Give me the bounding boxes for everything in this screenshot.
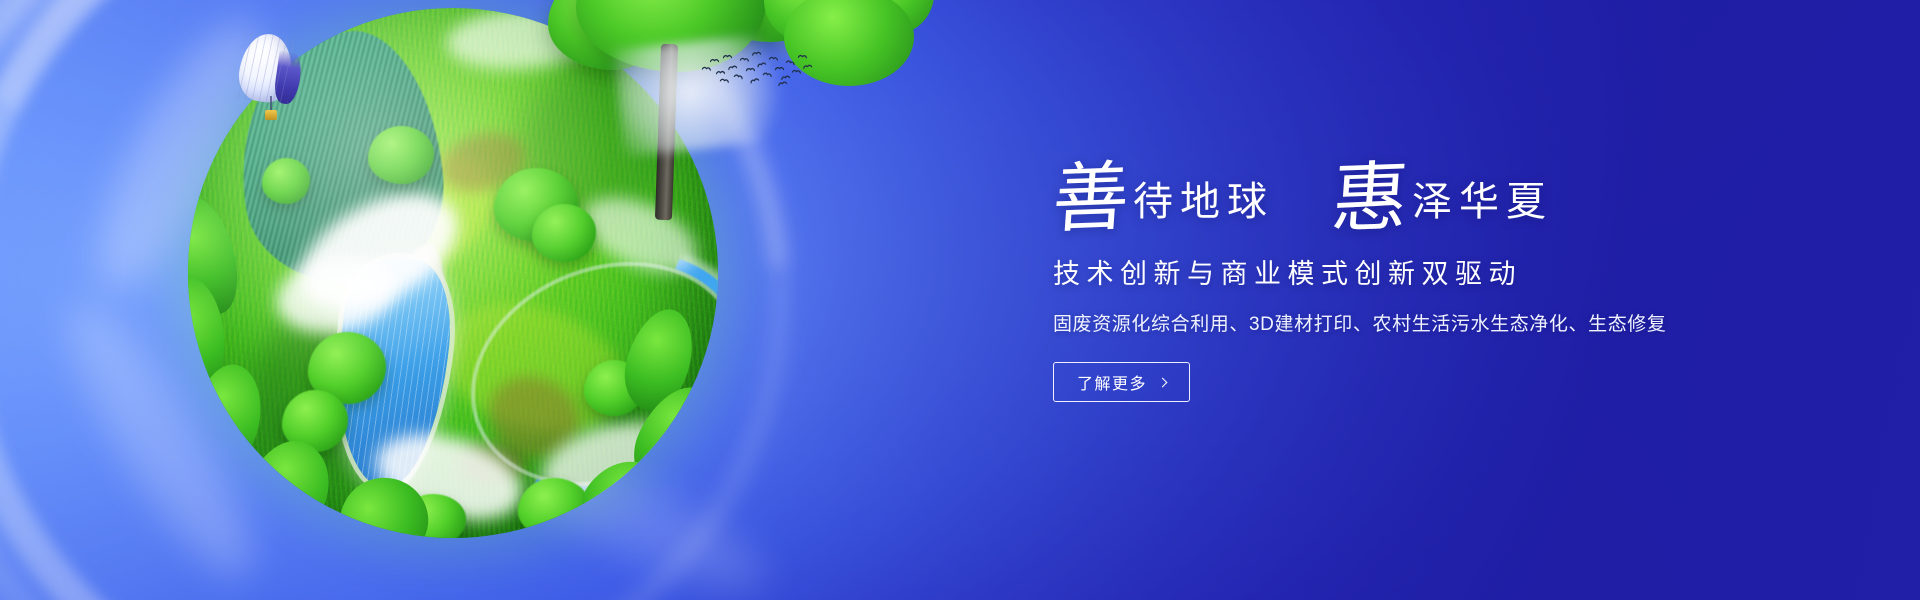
headline-phrase-1-rest: 待地球 [1133, 182, 1274, 222]
bird-icon [728, 64, 738, 71]
cloud [281, 170, 476, 335]
learn-more-button[interactable]: 了解更多 [1053, 362, 1190, 402]
page-title: 善 待地球 惠 泽华夏 [1053, 146, 1753, 232]
bird-icon [720, 77, 730, 83]
bird-icon [775, 66, 784, 71]
headline-calligraphic-char-1: 善 [1050, 159, 1132, 238]
headline-calligraphic-char-2: 惠 [1329, 159, 1411, 238]
shrub [518, 478, 590, 538]
bird-icon [716, 70, 725, 75]
cloud [573, 182, 708, 287]
bird-icon [749, 77, 759, 85]
soil-patch [434, 123, 532, 201]
hero-subtitle: 技术创新与商业模式创新双驱动 [1053, 252, 1753, 291]
meadow-patch [323, 130, 514, 296]
headline-phrase-2-rest: 泽华夏 [1412, 182, 1553, 222]
lake-shore [369, 241, 457, 492]
bird-icon [752, 50, 762, 56]
hero-description: 固废资源化综合利用、3D建材打印、农村生活污水生态净化、生态修复 [1053, 309, 1753, 336]
soil-patch [476, 363, 592, 472]
bird-icon [723, 54, 732, 59]
lake [326, 253, 457, 493]
soil-patch [456, 444, 526, 484]
bird-icon [740, 56, 750, 62]
shrub [308, 332, 386, 404]
meadow-patch [424, 282, 642, 455]
shrub [400, 494, 466, 538]
shrub [262, 158, 310, 204]
bird-icon [792, 68, 802, 74]
balloon-basket [265, 110, 277, 120]
shrub [584, 360, 644, 416]
bird-icon [798, 54, 807, 60]
cloud [366, 419, 532, 535]
bird-icon [785, 59, 795, 67]
hot-air-balloon-icon [240, 34, 302, 130]
bird-icon [763, 71, 773, 78]
shrub [494, 168, 578, 242]
bird-icon [769, 55, 779, 61]
bird-icon [733, 73, 743, 80]
bird-flock-icon [700, 48, 810, 92]
bird-icon [710, 58, 719, 63]
bird-icon [778, 80, 788, 87]
rim-tree [328, 467, 438, 538]
chevron-right-icon [1158, 377, 1168, 387]
shrub [532, 204, 596, 262]
bird-icon [756, 61, 766, 69]
bird-icon [746, 67, 755, 72]
shrub [282, 390, 348, 452]
learn-more-label: 了解更多 [1077, 370, 1147, 394]
hero-copy: 善 待地球 惠 泽华夏 技术创新与商业模式创新双驱动 固废资源化综合利用、3D建… [1053, 146, 1753, 402]
shrub [368, 126, 434, 184]
rim-tree [188, 191, 248, 322]
cloud [270, 248, 401, 342]
shadow-patch [248, 308, 428, 478]
hero-banner: 善 待地球 惠 泽华夏 技术创新与商业模式创新双驱动 固废资源化综合利用、3D建… [0, 0, 1920, 600]
bird-icon [702, 65, 712, 71]
